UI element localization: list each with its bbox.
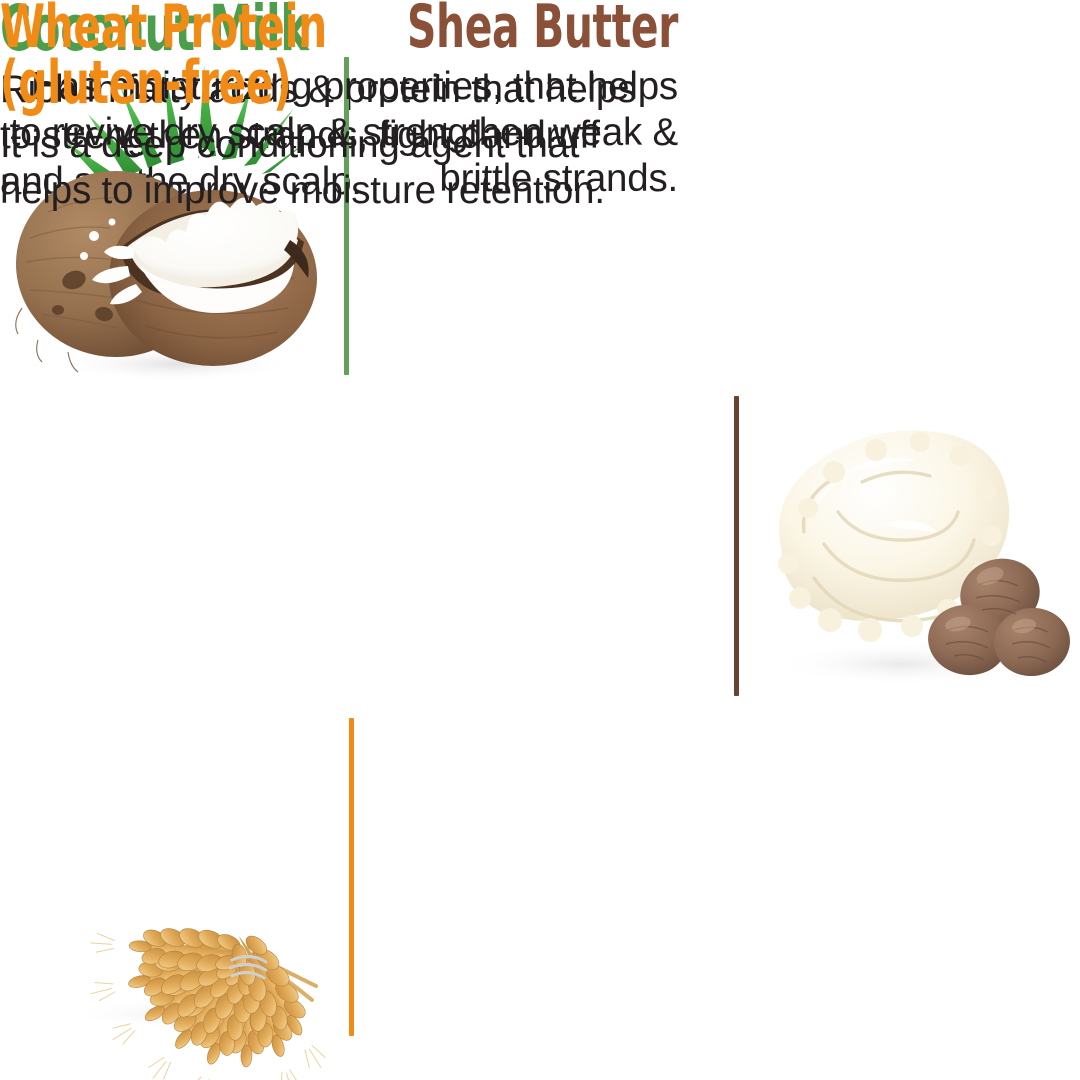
wheat-ears [85, 918, 342, 1080]
divider-shea [734, 396, 739, 696]
wheat-text-block: Wheat Protein (gluten-free) It is a deep… [0, 0, 670, 214]
divider-wheat [349, 718, 354, 1036]
wheat-heading: Wheat Protein (gluten-free) [0, 0, 456, 112]
ingredient-infographic: Coconut Milk Rich in fatty acids & prote… [0, 0, 1080, 1080]
wheat-protein-image [18, 722, 343, 1044]
wheat-heading-line-2: (gluten-free) [0, 56, 456, 112]
section-wheat-protein: Wheat Protein (gluten-free) It is a deep… [0, 0, 670, 214]
shea-butter-image [752, 412, 1070, 700]
wheat-body-text: It is a deep conditioning agent that hel… [0, 122, 670, 214]
